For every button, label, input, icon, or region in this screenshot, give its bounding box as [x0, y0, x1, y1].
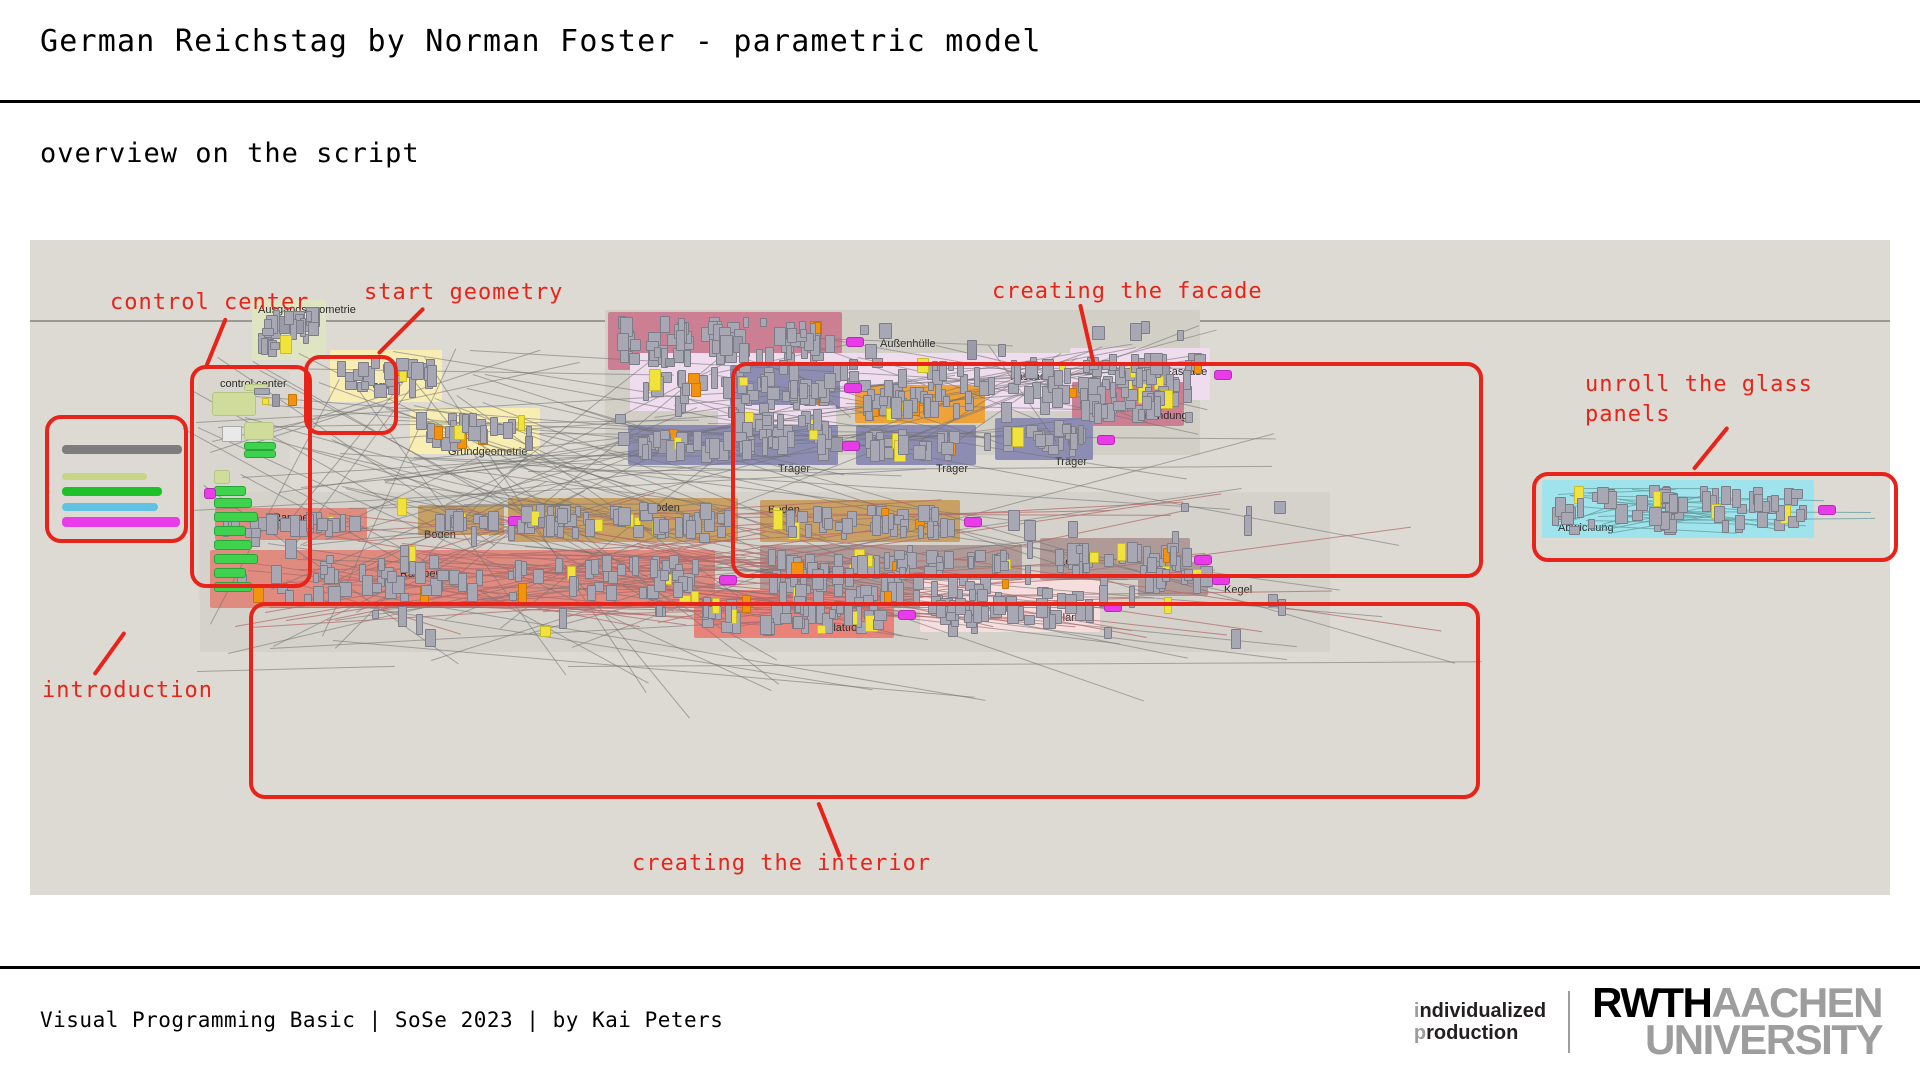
graph-node[interactable]: [720, 335, 733, 356]
graph-node[interactable]: [503, 422, 513, 439]
graph-node[interactable]: [691, 382, 701, 397]
graph-node[interactable]: [525, 436, 533, 451]
graph-node[interactable]: [462, 414, 469, 433]
graph-node[interactable]: [518, 415, 525, 431]
graph-node[interactable]: [699, 533, 710, 543]
graph-node[interactable]: [526, 426, 532, 437]
graph-node[interactable]: [313, 573, 319, 583]
graph-node[interactable]: [1177, 330, 1184, 341]
graph-node[interactable]: [349, 516, 361, 532]
graph-node[interactable]: [569, 576, 577, 597]
ip-lead-2: p: [1414, 1022, 1426, 1044]
highlight-start-geometry-box[interactable]: [304, 355, 398, 435]
graph-node[interactable]: [429, 555, 439, 569]
graph-node[interactable]: [632, 556, 639, 576]
title-divider: [0, 100, 1920, 103]
graph-node[interactable]: [585, 519, 595, 537]
graph-node[interactable]: [676, 442, 685, 461]
graph-node[interactable]: [650, 559, 658, 578]
graph-node[interactable]: [362, 575, 373, 596]
graph-node[interactable]: [618, 432, 630, 446]
graph-node[interactable]: [415, 562, 426, 584]
graph-node[interactable]: [435, 514, 445, 532]
graph-node[interactable]: [606, 585, 617, 601]
graph-node[interactable]: [642, 444, 649, 460]
graph-node[interactable]: [538, 517, 545, 528]
slide-subtitle: overview on the script: [40, 138, 420, 169]
graph-node[interactable]: [546, 515, 555, 537]
graph-node[interactable]: [509, 592, 517, 601]
graph-node[interactable]: [340, 514, 346, 532]
graph-node[interactable]: [643, 382, 649, 401]
graph-node[interactable]: [774, 327, 786, 346]
graph-node[interactable]: [508, 525, 515, 541]
annotation-unroll-glass-panels: unroll the glass panels: [1585, 370, 1813, 429]
graph-node[interactable]: [479, 516, 488, 529]
annotation-creating-the-interior: creating the interior: [632, 849, 931, 879]
annotation-introduction: introduction: [42, 676, 213, 706]
graph-node[interactable]: [977, 589, 988, 602]
graph-node[interactable]: [518, 583, 527, 604]
graph-node[interactable]: [458, 573, 467, 592]
graph-node[interactable]: [719, 575, 737, 585]
university-wordmark: UNIVERSITY: [1592, 1022, 1882, 1059]
graph-node[interactable]: [629, 353, 640, 365]
graph-node[interactable]: [673, 582, 683, 598]
highlight-introduction-box[interactable]: [45, 415, 188, 543]
page-title: German Reichstag by Norman Foster - para…: [40, 24, 1042, 59]
graph-node[interactable]: [709, 438, 720, 459]
graph-node[interactable]: [682, 383, 690, 396]
graph-node[interactable]: [639, 587, 647, 599]
graph-node[interactable]: [649, 369, 661, 391]
ip-rest-1: ndividualized: [1419, 1000, 1546, 1022]
graph-node[interactable]: [387, 571, 397, 583]
logo-group: individualized production RWTHAACHEN UNI…: [1414, 987, 1882, 1057]
graph-node[interactable]: [865, 344, 877, 359]
graph-node[interactable]: [998, 344, 1006, 357]
graph-node[interactable]: [468, 426, 481, 441]
graph-node[interactable]: [618, 507, 631, 526]
graph-node[interactable]: [660, 570, 669, 581]
highlight-interior-box[interactable]: [249, 602, 1480, 799]
graph-node[interactable]: [409, 377, 416, 398]
graph-node[interactable]: [633, 525, 644, 538]
graph-node[interactable]: [397, 498, 407, 516]
graph-node[interactable]: [587, 585, 596, 601]
graph-node[interactable]: [313, 586, 324, 603]
graph-node[interactable]: [471, 526, 477, 547]
graph-node[interactable]: [659, 519, 669, 533]
footer-text: Visual Programming Basic | SoSe 2023 | b…: [40, 1008, 723, 1032]
graph-node[interactable]: [969, 589, 976, 601]
graph-node[interactable]: [261, 338, 268, 355]
graph-node[interactable]: [800, 329, 807, 338]
graph-node[interactable]: [280, 335, 292, 354]
highlight-facade-box[interactable]: [731, 362, 1483, 578]
graph-node[interactable]: [400, 556, 409, 573]
graph-node[interactable]: [555, 558, 563, 573]
graph-node[interactable]: [411, 362, 424, 380]
graph-node[interactable]: [654, 347, 661, 358]
graph-node[interactable]: [846, 337, 864, 347]
rwth-aachen-university-logo: RWTHAACHEN UNIVERSITY: [1592, 985, 1882, 1059]
graph-node[interactable]: [427, 365, 437, 387]
graph-node[interactable]: [615, 414, 626, 424]
graph-node[interactable]: [1002, 579, 1009, 589]
graph-node[interactable]: [270, 342, 280, 350]
ip-rest-2: roduction: [1426, 1022, 1518, 1044]
graph-node[interactable]: [711, 367, 718, 389]
graph-node[interactable]: [779, 582, 787, 603]
graph-node[interactable]: [676, 330, 685, 351]
graph-node[interactable]: [879, 323, 892, 339]
graph-node[interactable]: [488, 511, 499, 531]
graph-node[interactable]: [533, 569, 544, 584]
graph-node[interactable]: [557, 508, 568, 524]
graph-node[interactable]: [296, 320, 304, 334]
graph-node[interactable]: [467, 583, 478, 602]
group-label: Kegel: [1224, 584, 1252, 596]
graph-node[interactable]: [825, 335, 835, 353]
graph-node[interactable]: [591, 559, 599, 575]
graph-node[interactable]: [860, 325, 869, 335]
graph-node[interactable]: [320, 565, 328, 575]
highlight-control-center-box[interactable]: [190, 365, 312, 588]
graph-node[interactable]: [692, 559, 699, 575]
graph-node[interactable]: [739, 343, 749, 363]
graph-node[interactable]: [743, 317, 749, 328]
graph-node[interactable]: [786, 345, 792, 360]
graph-node[interactable]: [326, 555, 334, 564]
graph-node[interactable]: [630, 339, 641, 351]
graph-node[interactable]: [688, 373, 700, 384]
graph-node[interactable]: [262, 328, 274, 336]
graph-node[interactable]: [453, 511, 464, 532]
graph-node[interactable]: [717, 526, 726, 538]
annotation-creating-the-facade: creating the facade: [992, 277, 1263, 307]
graph-node[interactable]: [437, 570, 449, 581]
graph-node[interactable]: [378, 558, 385, 571]
graph-node[interactable]: [421, 585, 432, 596]
graph-node[interactable]: [967, 340, 977, 360]
graph-node[interactable]: [400, 593, 409, 602]
graph-node[interactable]: [617, 333, 629, 351]
graph-node[interactable]: [700, 503, 712, 520]
graph-node[interactable]: [317, 518, 328, 531]
graph-node[interactable]: [434, 426, 443, 440]
graph-node[interactable]: [653, 431, 661, 448]
annotation-control-center: control center: [110, 288, 309, 318]
graph-node[interactable]: [665, 358, 675, 367]
graph-node[interactable]: [787, 328, 797, 343]
graph-node[interactable]: [675, 517, 683, 538]
graph-node[interactable]: [490, 417, 498, 436]
highlight-glass-panels-box[interactable]: [1532, 472, 1898, 562]
graph-node[interactable]: [760, 318, 767, 327]
graph-node[interactable]: [686, 520, 696, 539]
graph-node[interactable]: [602, 555, 612, 572]
graph-node[interactable]: [557, 526, 564, 538]
annotation-start-geometry: start geometry: [364, 278, 563, 308]
slide-root: German Reichstag by Norman Foster - para…: [0, 0, 1920, 1080]
graph-node[interactable]: [480, 425, 487, 444]
graph-node[interactable]: [308, 322, 319, 336]
graph-node[interactable]: [515, 560, 522, 582]
footer-divider: [0, 966, 1920, 969]
graph-node[interactable]: [1092, 326, 1105, 340]
graph-node[interactable]: [399, 371, 407, 382]
graph-node[interactable]: [648, 503, 658, 514]
graph-node[interactable]: [660, 316, 670, 333]
graph-node[interactable]: [693, 431, 702, 451]
graph-node[interactable]: [572, 527, 579, 539]
graph-node[interactable]: [1141, 321, 1150, 334]
graph-node[interactable]: [1193, 576, 1201, 594]
graph-node[interactable]: [684, 350, 691, 367]
graph-node[interactable]: [416, 412, 427, 430]
logo-divider: [1568, 991, 1570, 1053]
individualized-production-logo: individualized production: [1414, 1000, 1568, 1045]
graph-node[interactable]: [617, 564, 626, 576]
